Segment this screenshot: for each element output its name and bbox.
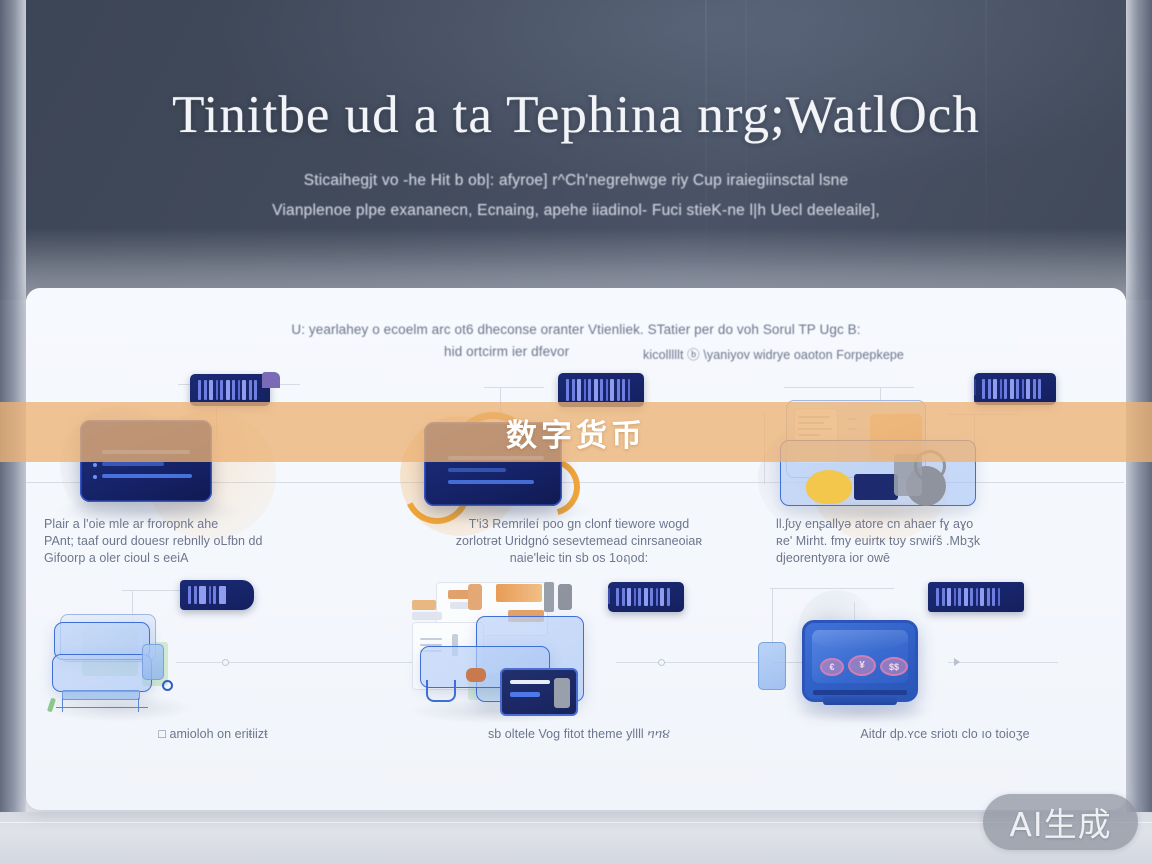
device-side — [554, 678, 570, 708]
screen-gloss — [812, 630, 908, 651]
yellow-shape — [806, 470, 852, 504]
tablet-screen: € ¥ $$ — [812, 630, 908, 683]
cell-caption: Aitdr dp.ʏce sriotı clo ıo toioʒe — [776, 726, 1114, 743]
server-leg — [138, 698, 139, 712]
card-dot — [93, 463, 97, 467]
tablet-foot — [823, 696, 897, 705]
device-stripe — [510, 680, 550, 684]
cell-office-devices[interactable]: sb oltele Vog fitot theme yllll ⴈⴈ૪ — [392, 576, 758, 786]
cell-server-rack[interactable]: □ amioloh on eriŧiizŧ — [26, 576, 392, 786]
page-subtitle-line-2: Vianplenoe plpe exananecn, Ecnaing, apeh… — [0, 202, 1152, 220]
coin-icon: € — [820, 658, 844, 676]
cell-caption: □ amioloh on eriŧiizŧ — [44, 726, 382, 743]
shelf-bottle — [468, 584, 482, 610]
cell-caption: Plair a l'oie mle ar froropnk ahe PAnt; … — [44, 516, 382, 567]
ai-generated-label: AI生成 — [1009, 798, 1111, 846]
light-streak — [745, 0, 747, 300]
dark-device — [500, 668, 578, 716]
base-strip — [0, 812, 1152, 864]
screenshot-canvas: Tinitbe ud a ta Tephina nrg;WatlOch Stic… — [0, 0, 1152, 864]
cell-device-network[interactable]: ll.ʃʊy enʂallyə atore cn ahaer fɣ aɣo ʀe… — [758, 366, 1124, 576]
card-stripe — [102, 462, 164, 466]
shelf-item — [412, 612, 442, 620]
barcode-chip-icon — [180, 580, 254, 610]
shelf-tool — [558, 584, 572, 610]
connector-line — [770, 588, 894, 589]
card-stripe — [102, 474, 192, 478]
ai-generated-badge: AI生成 — [983, 794, 1138, 850]
port-ring — [162, 680, 173, 691]
cell-crypto-tablet[interactable]: € ¥ $$ Aitdr dp.ʏce sriotı clo ıo toioʒe — [758, 576, 1124, 786]
digital-currency-banner: 数字货币 — [0, 402, 1152, 462]
cell-cloud-transfer[interactable]: T'i3 Remrileí poo gn clonf tiewore wogd … — [392, 366, 758, 576]
tablet-device: € ¥ $$ — [802, 620, 918, 702]
card-lead-line-2-left: hid ortcirm ier dfevor — [444, 344, 569, 359]
connector-node[interactable] — [658, 659, 665, 666]
card-stripe — [448, 480, 534, 484]
tablet-bezel-bar — [813, 690, 907, 695]
page-title: Tinitbe ud a ta Tephina nrg;WatlOch — [0, 82, 1152, 148]
coin-icon: $$ — [880, 657, 908, 676]
office-desk-devices-illustration — [392, 576, 758, 726]
card-stripe — [448, 468, 506, 472]
connector-line — [176, 662, 392, 663]
banner-title: 数字货币 — [506, 410, 646, 455]
chip-corner-tab — [262, 372, 280, 388]
barcode-chip-icon — [928, 582, 1024, 612]
shelf-item — [412, 600, 436, 610]
page-subtitle-line-1: Sticaihegjt vo -he Hit b ob|: afyroe] r^… — [0, 172, 1152, 190]
server-shelf — [52, 654, 152, 692]
device-stripe — [510, 692, 540, 697]
connector-line — [948, 662, 1058, 663]
cable — [426, 680, 456, 702]
light-streak — [705, 0, 707, 300]
glass-server-illustration — [26, 576, 392, 726]
side-module — [758, 642, 786, 690]
chip-nub — [974, 379, 976, 395]
hero-background — [0, 0, 1152, 300]
arrow-head — [954, 658, 960, 666]
mouse — [466, 668, 486, 682]
text-line — [420, 638, 442, 640]
cell-caption: ll.ʃʊy enʂallyə atore cn ahaer fɣ aɣo ʀe… — [776, 516, 1114, 567]
dark-panel — [854, 474, 898, 500]
barcode-chip-icon — [608, 582, 684, 612]
connector-line — [484, 387, 544, 388]
server-foot — [56, 707, 148, 708]
server-base — [62, 690, 140, 700]
tablet-coins-illustration: € ¥ $$ — [758, 576, 1124, 726]
light-streak — [985, 0, 987, 300]
connector-line — [784, 387, 914, 388]
connector-line — [616, 662, 758, 663]
cell-wallet-card[interactable]: Plair a l'oie mle ar froropnk ahe PAnt; … — [26, 366, 392, 576]
cell-caption: sb oltele Vog fitot theme yllll ⴈⴈ૪ — [410, 726, 748, 743]
card-lead-line-1: U: yearlahey o ecoelm arc ot6 dheconse o… — [291, 322, 860, 337]
connector-line — [772, 588, 773, 650]
shelf-banner — [496, 584, 542, 602]
server-leg — [62, 698, 63, 712]
chip-nub — [608, 588, 610, 604]
shelf-tool — [544, 582, 554, 612]
barcode-chip-icon — [974, 373, 1056, 405]
cell-caption: T'i3 Remrileí poo gn clonf tiewore wogd … — [410, 516, 748, 567]
content-card: U: yearlahey o ecoelm arc ot6 dheconse o… — [26, 288, 1126, 810]
server-side-module — [142, 644, 164, 680]
card-lead-line-2-right: kicolllllt ⓑ \yaniyov widrye oaoton Forp… — [643, 344, 904, 363]
coin-icon: ¥ — [848, 655, 876, 676]
connector-node[interactable] — [222, 659, 229, 666]
card-dot — [93, 475, 97, 479]
